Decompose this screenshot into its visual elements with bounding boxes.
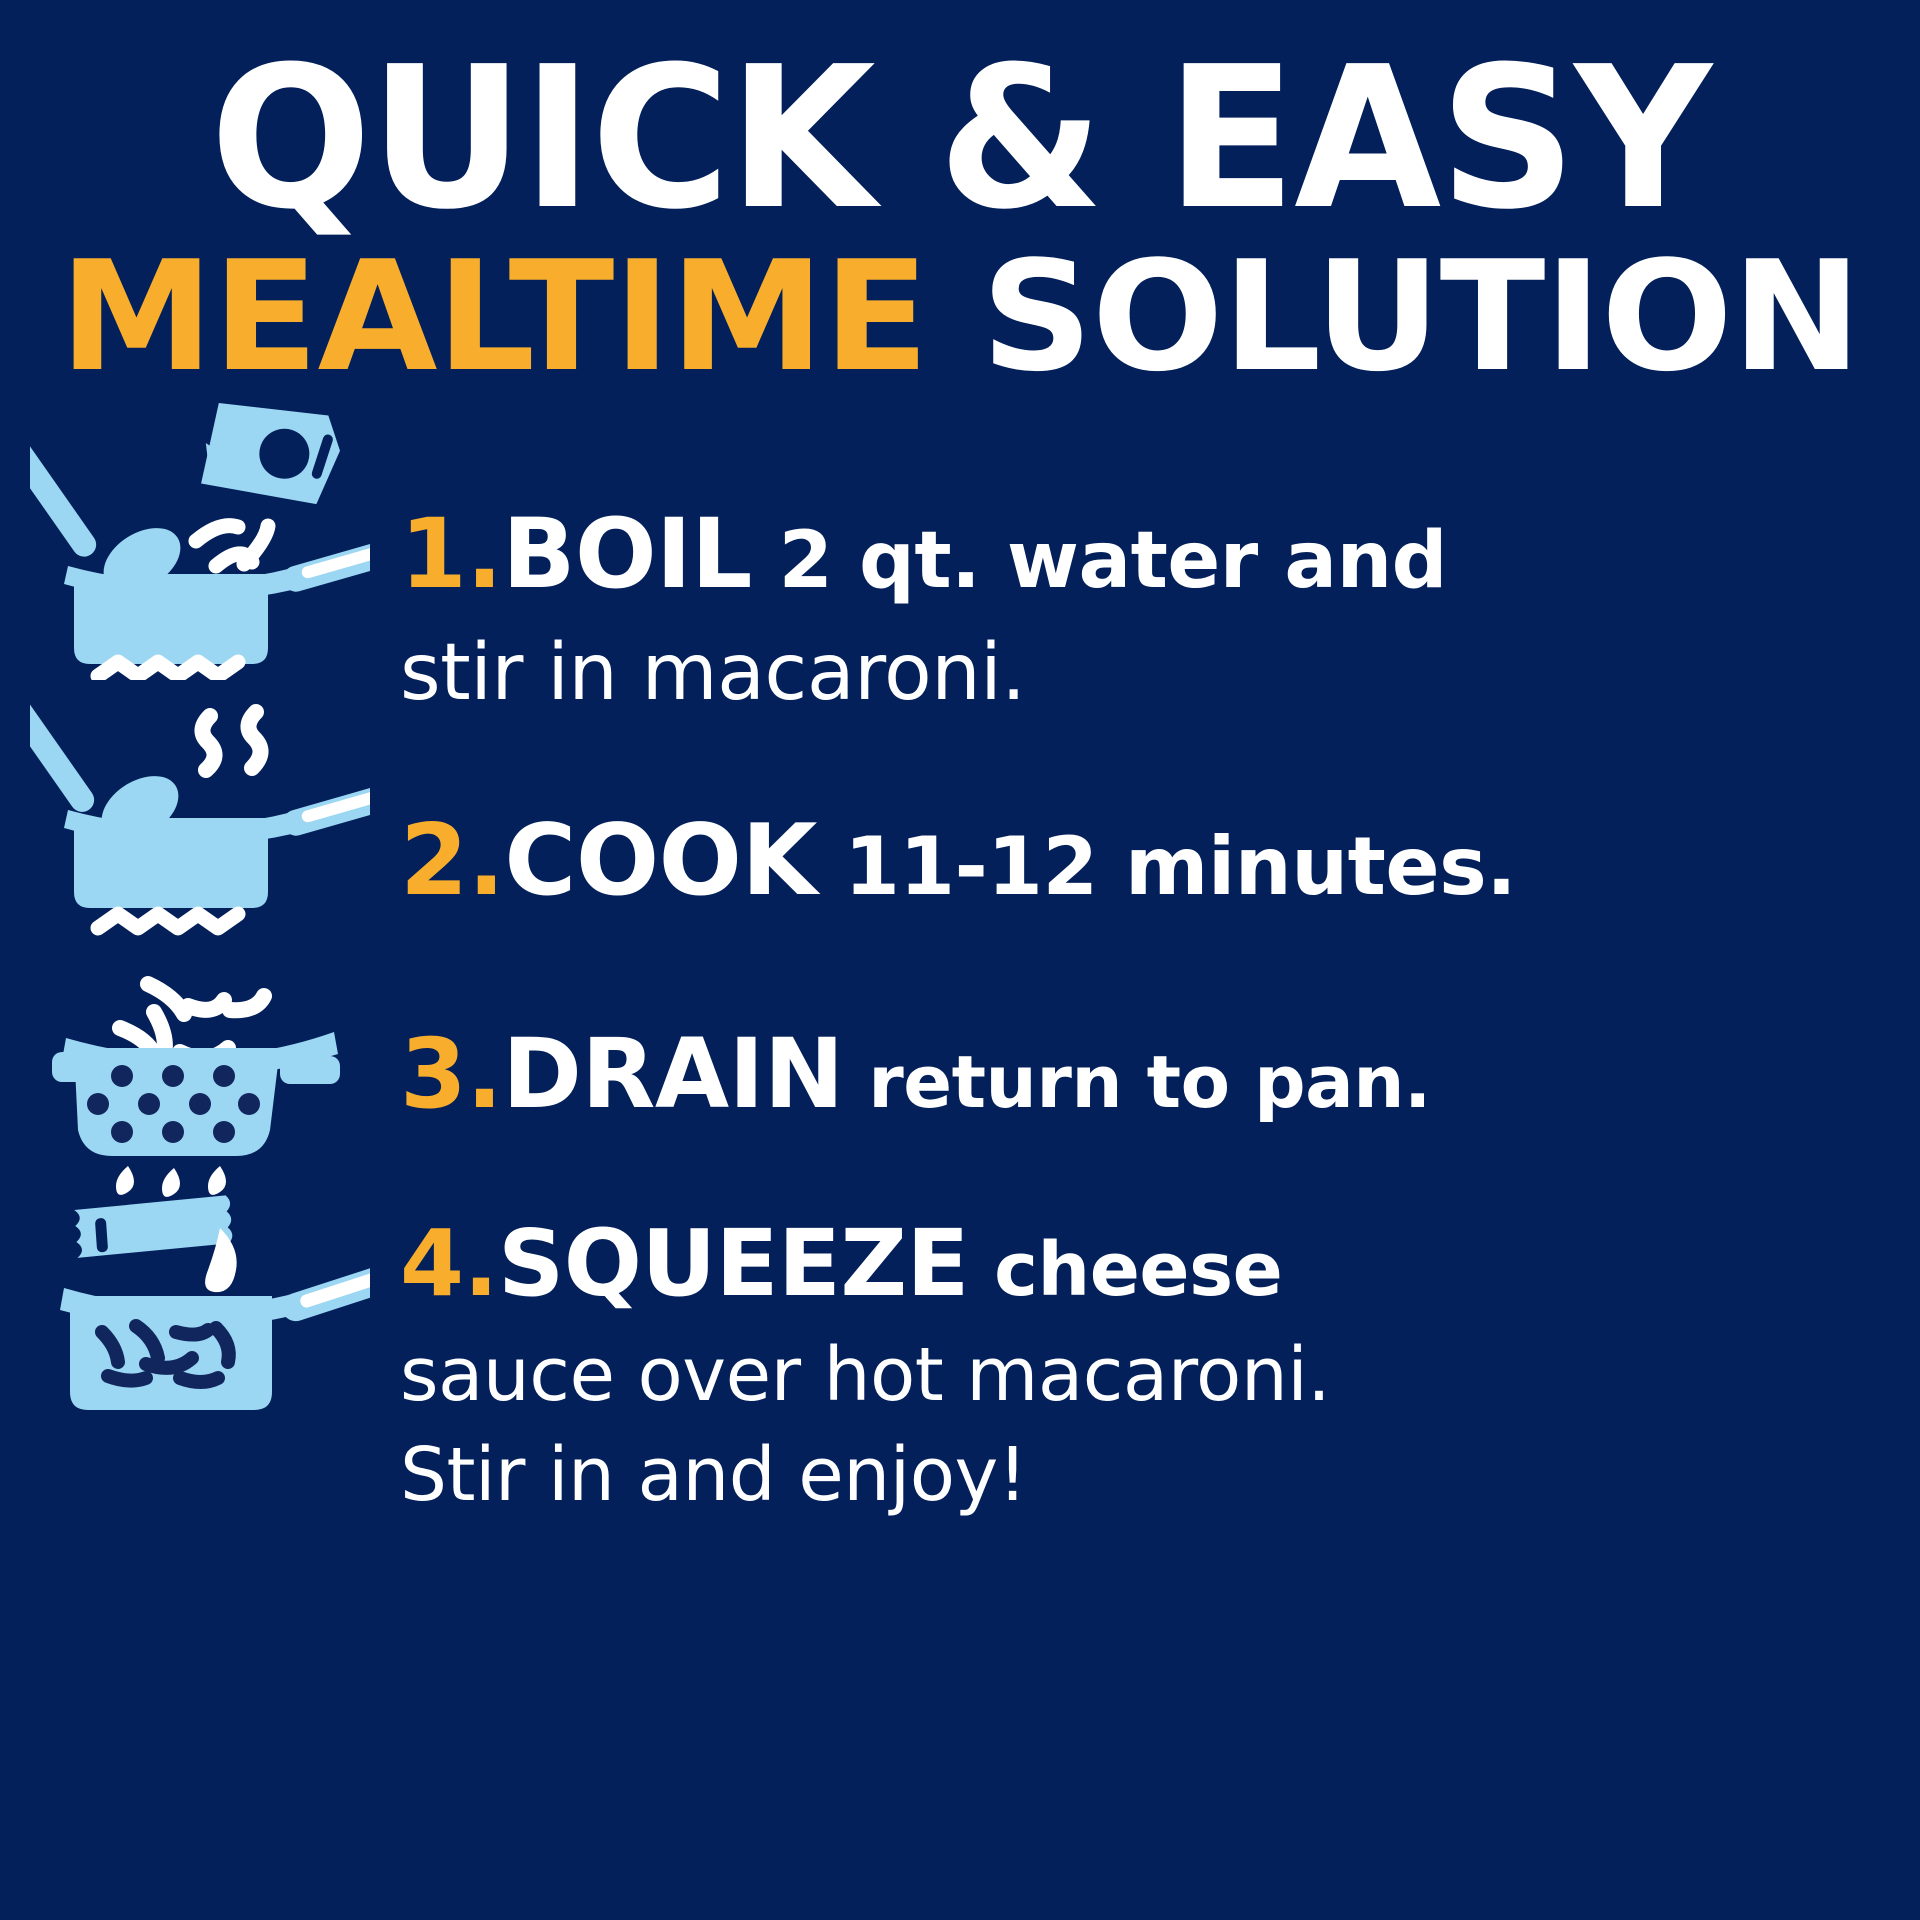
step-4-rest: cheese — [969, 1227, 1282, 1313]
step-4-line-3: Stir in and enjoy! — [400, 1426, 1880, 1526]
step-2-number: 2. — [400, 804, 504, 918]
step-2-text: 2.COOK 11-12 minutes. — [400, 680, 1920, 925]
step-item-1: 1.BOIL 2 qt. water and stir in macaroni. — [0, 380, 1920, 728]
steps-list: 1.BOIL 2 qt. water and stir in macaroni. — [0, 380, 1920, 1920]
page-title: QUICK & EASY MEALTIME SOLUTION — [0, 46, 1920, 396]
step-4-verb: SQUEEZE — [498, 1210, 969, 1317]
step-2-rest: 11-12 minutes. — [817, 820, 1516, 913]
step-item-4: 4.SQUEEZE cheese sauce over hot macaroni… — [0, 1180, 1920, 1526]
step-4-text: 4.SQUEEZE cheese sauce over hot macaroni… — [400, 1180, 1920, 1526]
step-3-line-1: 3.DRAIN return to pan. — [400, 1012, 1880, 1137]
title-line-1: QUICK & EASY — [87, 46, 1833, 232]
step-2-line-1: 2.COOK 11-12 minutes. — [400, 798, 1880, 925]
pot-with-spoon-and-macaroni-box-icon — [30, 380, 370, 680]
step-3-icon-wrap — [0, 960, 400, 1210]
step-item-2: 2.COOK 11-12 minutes. — [0, 680, 1920, 950]
step-4-icon-wrap — [0, 1180, 400, 1450]
step-item-3: 3.DRAIN return to pan. — [0, 960, 1920, 1210]
title-line-2: MEALTIME SOLUTION — [42, 238, 1878, 396]
colander-draining-icon — [30, 960, 370, 1210]
step-4-line-1: 4.SQUEEZE cheese — [400, 1202, 1880, 1326]
step-1-verb: BOIL — [502, 498, 752, 610]
step-3-rest: return to pan. — [844, 1040, 1431, 1124]
step-1-rest: 2 qt. water and — [752, 516, 1447, 606]
step-2-verb: COOK — [504, 804, 816, 918]
step-1-text: 1.BOIL 2 qt. water and stir in macaroni. — [400, 380, 1920, 728]
step-2-icon-wrap — [0, 680, 400, 950]
step-1-line-1: 1.BOIL 2 qt. water and — [400, 488, 1880, 620]
step-3-text: 3.DRAIN return to pan. — [400, 960, 1920, 1137]
title-accent-word: MEALTIME — [59, 228, 928, 405]
pot-with-steam-icon — [30, 680, 370, 950]
step-1-icon-wrap — [0, 380, 400, 680]
step-1-number: 1. — [400, 498, 502, 610]
step-3-verb: DRAIN — [502, 1018, 843, 1130]
cheese-packet-over-pan-icon — [30, 1180, 370, 1450]
title-white-word: SOLUTION — [928, 228, 1860, 405]
step-4-line-2: sauce over hot macaroni. — [400, 1326, 1880, 1426]
step-3-number: 3. — [400, 1018, 502, 1130]
step-4-number: 4. — [400, 1210, 498, 1317]
